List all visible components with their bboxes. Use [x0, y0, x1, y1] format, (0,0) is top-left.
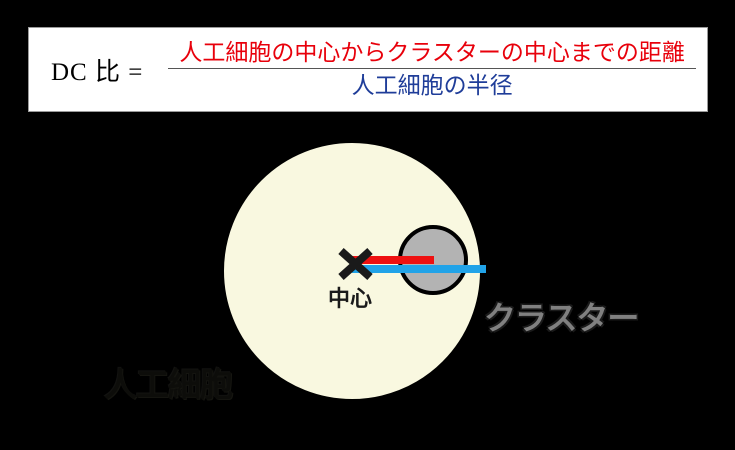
center-label: 中心 [328, 281, 372, 313]
slide-canvas: DC 比 = 人工細胞の中心からクラスターの中心までの距離 人工細胞の半径 中心… [0, 0, 735, 450]
cluster-label: クラスター [484, 293, 638, 339]
artificial-cell-label: 人工細胞 [104, 358, 232, 406]
